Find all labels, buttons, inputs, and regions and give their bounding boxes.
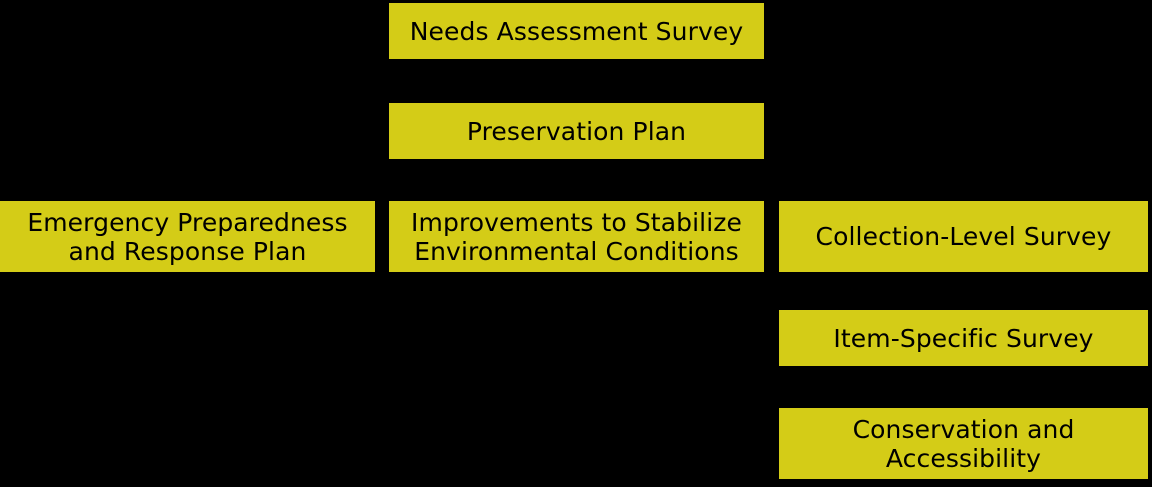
node-item-specific-survey[interactable]: Item-Specific Survey: [779, 310, 1148, 366]
diagram-canvas: Needs Assessment Survey Preservation Pla…: [0, 0, 1152, 487]
node-improvements-to-stabilize-environmental-conditions[interactable]: Improvements to Stabilize Environmental …: [389, 201, 764, 272]
node-needs-assessment-survey[interactable]: Needs Assessment Survey: [389, 3, 764, 59]
node-preservation-plan[interactable]: Preservation Plan: [389, 103, 764, 159]
node-conservation-and-accessibility[interactable]: Conservation and Accessibility: [779, 408, 1148, 479]
node-emergency-preparedness-and-response-plan[interactable]: Emergency Preparedness and Response Plan: [0, 201, 375, 272]
node-collection-level-survey[interactable]: Collection-Level Survey: [779, 201, 1148, 272]
